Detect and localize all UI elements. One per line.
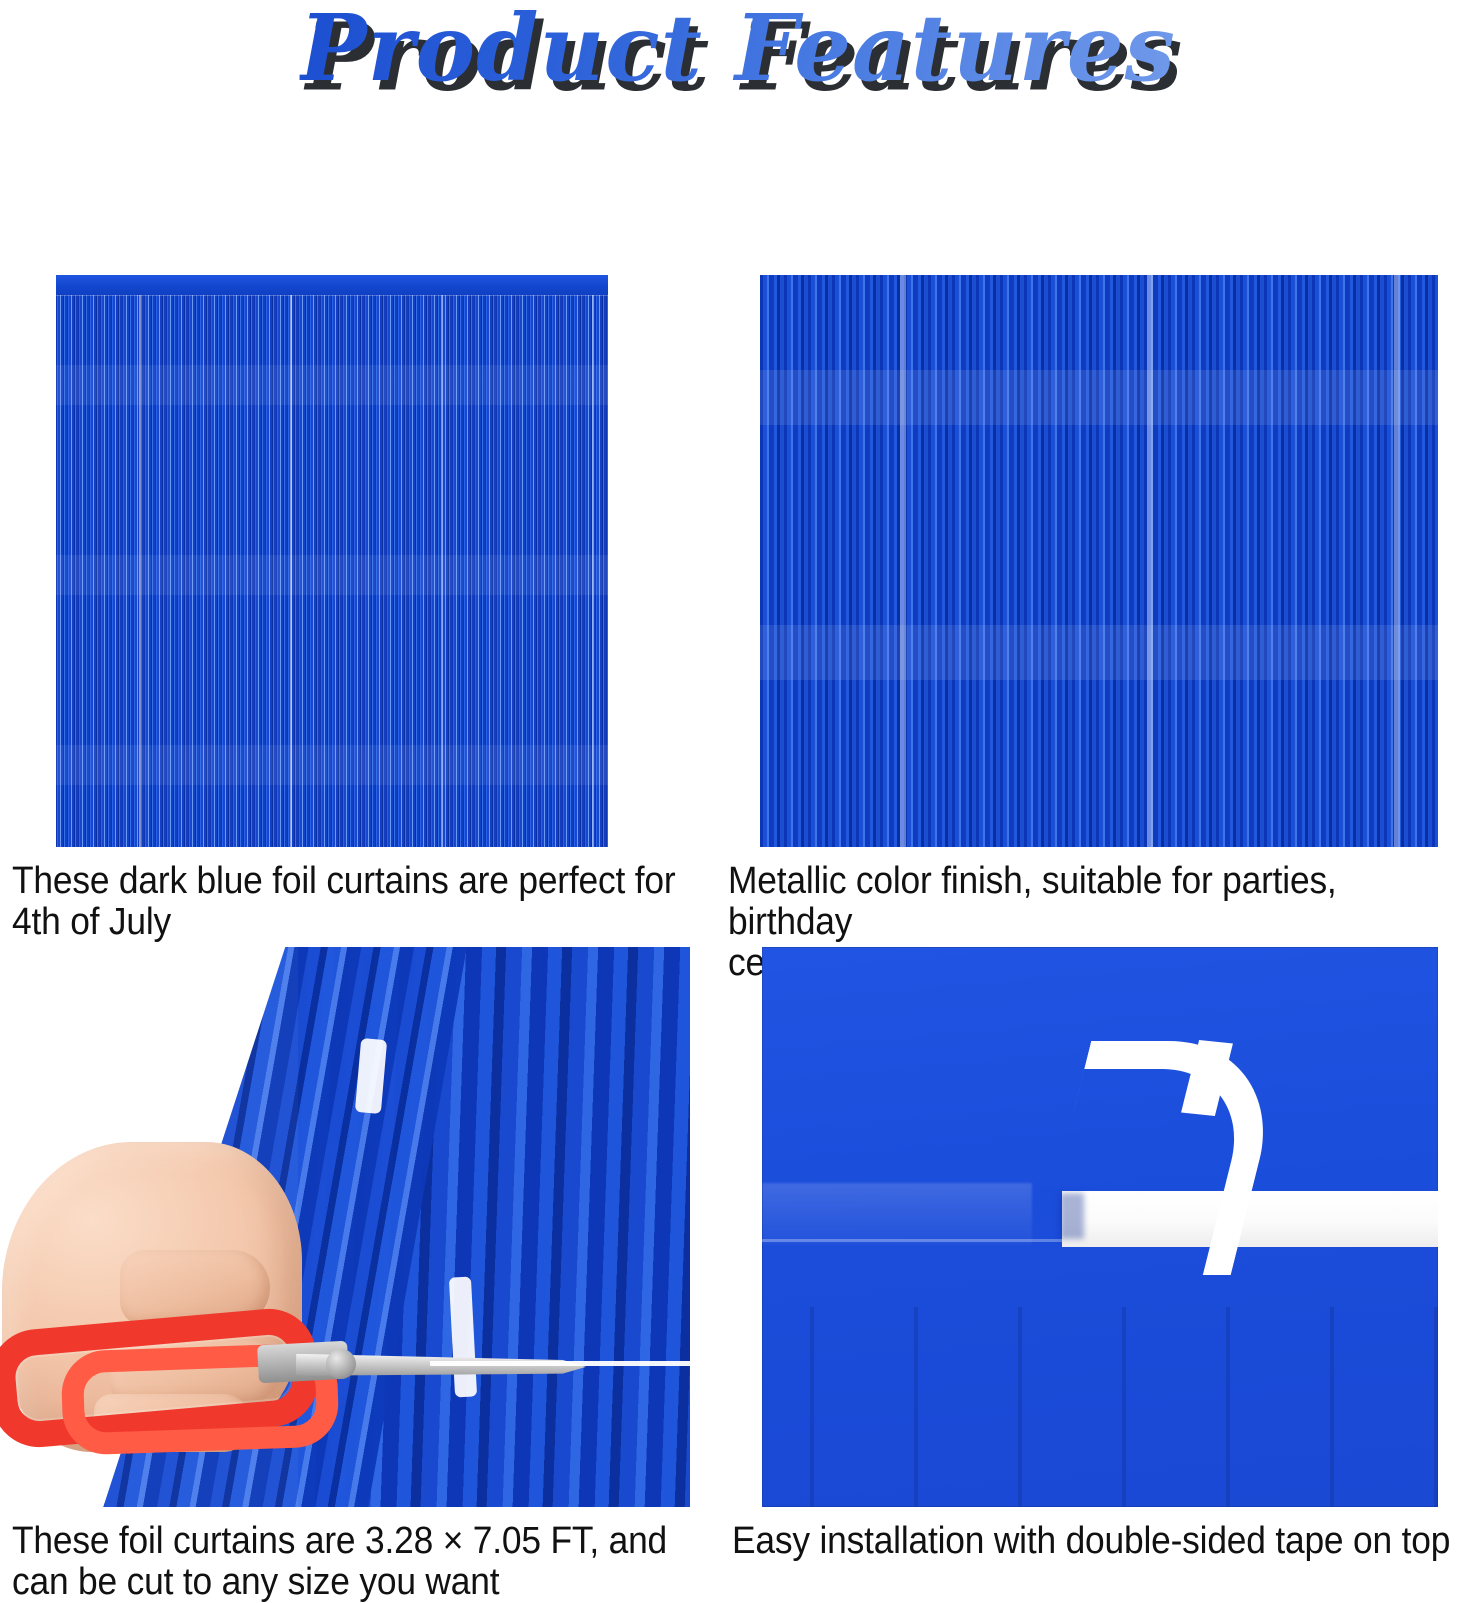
- feature-caption-4: Easy installation with double-sided tape…: [732, 1521, 1457, 1562]
- blue-foil-fringe-curtain-photo: [56, 275, 608, 847]
- foil-sheen: [762, 1183, 1032, 1245]
- double-sided-tape-on-foil-photo: [762, 947, 1438, 1507]
- foil-seam-line: [762, 1239, 1062, 1242]
- feature-item-3: These foil curtains are 3.28 × 7.05 FT, …: [0, 947, 700, 1603]
- feature-caption-3: These foil curtains are 3.28 × 7.05 FT, …: [12, 1521, 700, 1603]
- foil-sheet-stripes: [762, 1307, 1438, 1507]
- feature-item-2: Metallic color finish, suitable for part…: [760, 275, 1450, 984]
- tape-shadow: [1060, 1193, 1084, 1239]
- metallic-foil-curtain-closeup-photo: [760, 275, 1438, 847]
- cutting-foil-curtain-with-scissors-photo: [0, 947, 690, 1507]
- page-title: Product Features Product Features: [299, 0, 1175, 96]
- curtain-header-bar: [56, 275, 608, 295]
- scissors-pivot-screw: [326, 1349, 356, 1379]
- feature-item-1: These dark blue foil curtains are perfec…: [56, 275, 616, 943]
- feature-caption-1: These dark blue foil curtains are perfec…: [12, 861, 682, 943]
- page-header: Product Features Product Features: [0, 0, 1475, 112]
- foil-fringe-texture: [56, 295, 608, 847]
- page-title-fill: Product Features: [299, 0, 1175, 102]
- feature-item-4: Easy installation with double-sided tape…: [762, 947, 1452, 1562]
- foil-fringe-texture-wide: [760, 275, 1438, 847]
- cut-line: [430, 1361, 690, 1366]
